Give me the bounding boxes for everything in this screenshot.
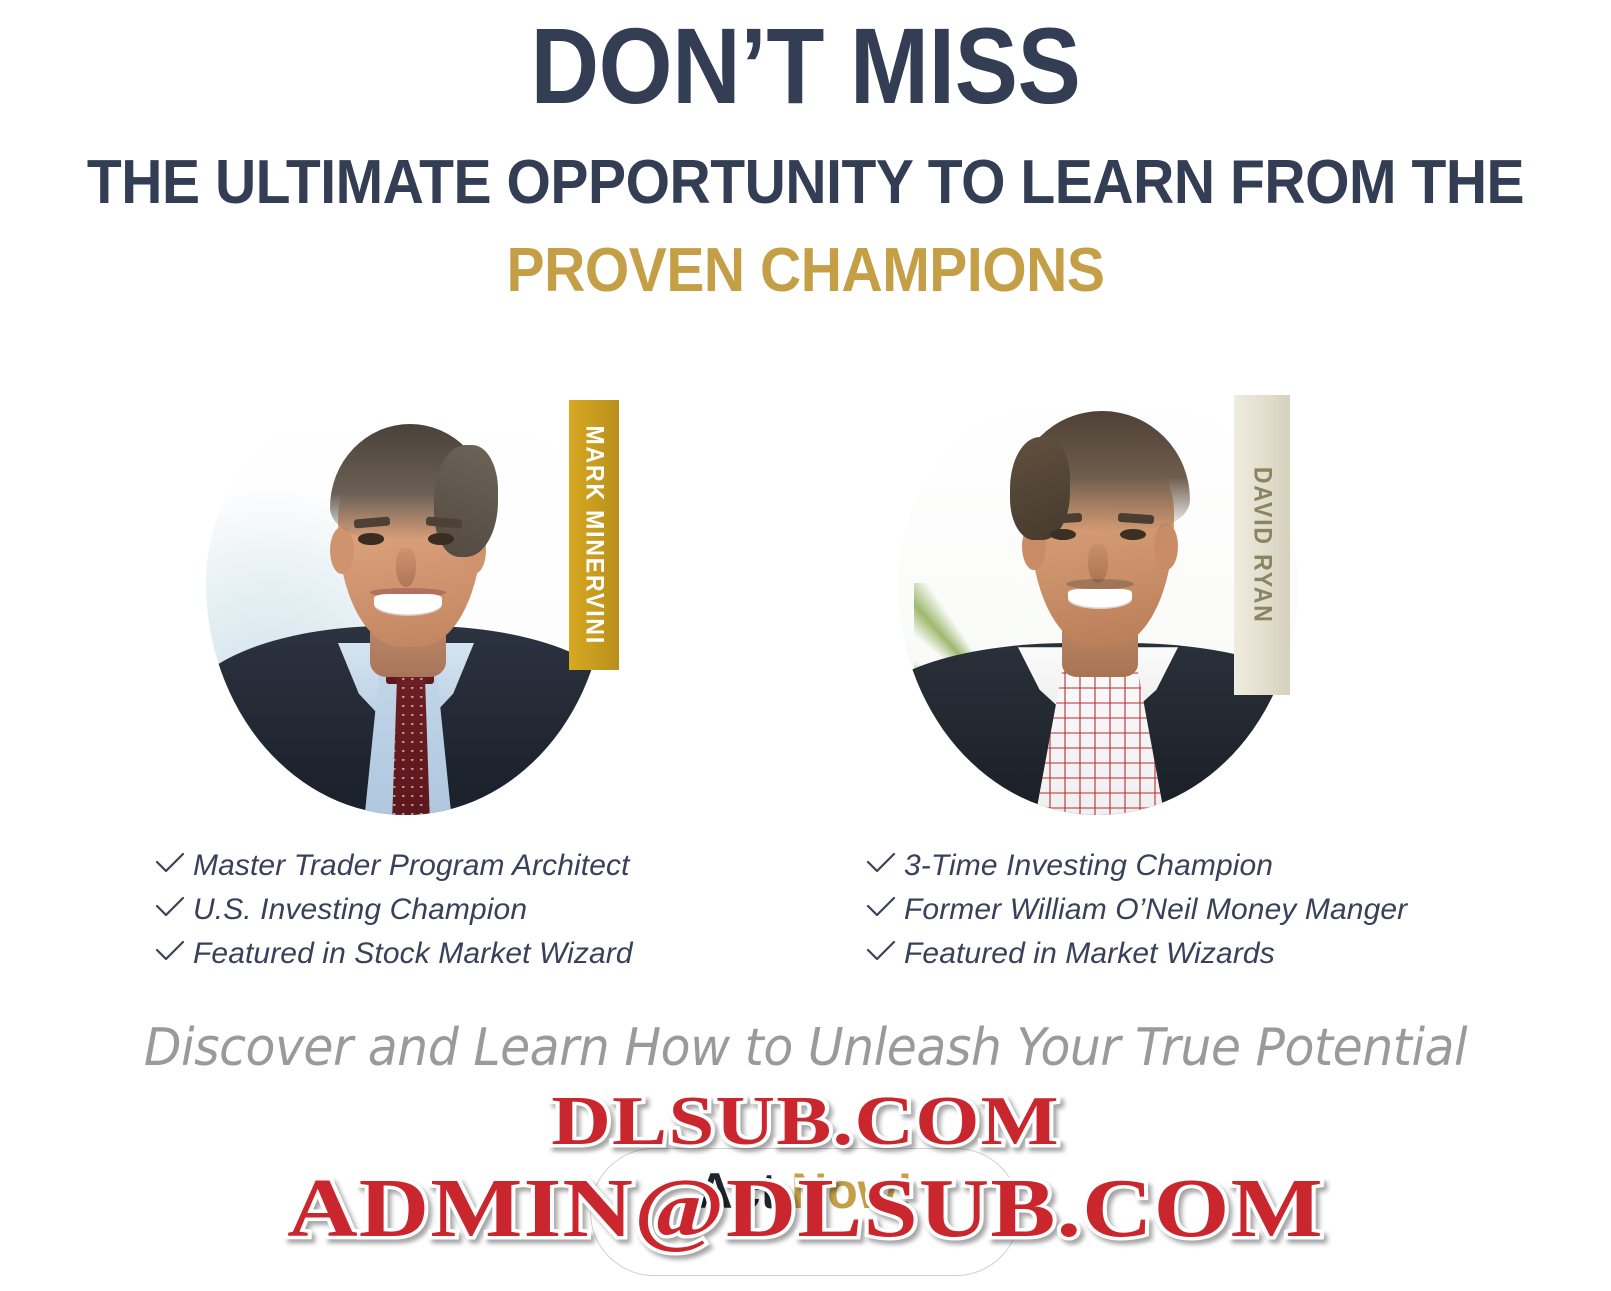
speaker-credentials: Master Trader Program Architect U.S. Inv…: [0, 845, 1611, 985]
speaker-name-badge-david-ryan: DAVID RYAN: [1234, 395, 1290, 695]
list-item: Featured in Stock Market Wizard: [155, 933, 633, 977]
list-item: U.S. Investing Champion: [155, 889, 633, 933]
credential-text: Featured in Market Wizards: [904, 937, 1275, 971]
headline-block: DON’T MISS THE ULTIMATE OPPORTUNITY TO L…: [0, 0, 1611, 302]
check-icon: [155, 933, 193, 963]
check-icon: [155, 845, 193, 875]
speaker-name-label: MARK MINERVINI: [580, 425, 609, 645]
list-item: Former William O’Neil Money Manger: [866, 889, 1407, 933]
tagline: Discover and Learn How to Unleash Your T…: [48, 1018, 1562, 1078]
speaker-photo-mark-minervini: [206, 385, 606, 815]
list-item: Featured in Market Wizards: [866, 933, 1407, 977]
check-icon: [866, 933, 904, 963]
speaker-name-label: DAVID RYAN: [1248, 467, 1277, 624]
portrait-illustration: [206, 385, 606, 815]
list-item: 3-Time Investing Champion: [866, 845, 1407, 889]
credential-text: Master Trader Program Architect: [193, 849, 630, 883]
check-icon: [866, 889, 904, 919]
headline-line-3: PROVEN CHAMPIONS: [64, 214, 1546, 302]
credential-text: U.S. Investing Champion: [193, 893, 527, 927]
headline-line-1: DON’T MISS: [97, 0, 1515, 120]
headline-line-2: THE ULTIMATE OPPORTUNITY TO LEARN FROM T…: [64, 120, 1546, 214]
watermark-site: DLSUB.COM: [0, 1082, 1611, 1162]
check-icon: [866, 845, 904, 875]
check-icon: [155, 889, 193, 919]
credential-text: Former William O’Neil Money Manger: [904, 893, 1407, 927]
credential-text: Featured in Stock Market Wizard: [193, 937, 633, 971]
speaker-card-david-ryan: DAVID RYAN: [878, 385, 1338, 855]
credential-text: 3-Time Investing Champion: [904, 849, 1273, 883]
watermark-email: ADMIN@DLSUB.COM: [0, 1160, 1611, 1257]
credentials-list-mark-minervini: Master Trader Program Architect U.S. Inv…: [155, 845, 633, 977]
credentials-list-david-ryan: 3-Time Investing Champion Former William…: [866, 845, 1407, 977]
list-item: Master Trader Program Architect: [155, 845, 633, 889]
speakers-row: MARK MINERVINI: [0, 385, 1611, 855]
speaker-card-mark-minervini: MARK MINERVINI: [186, 385, 646, 855]
speaker-name-badge-mark-minervini: MARK MINERVINI: [569, 400, 619, 670]
